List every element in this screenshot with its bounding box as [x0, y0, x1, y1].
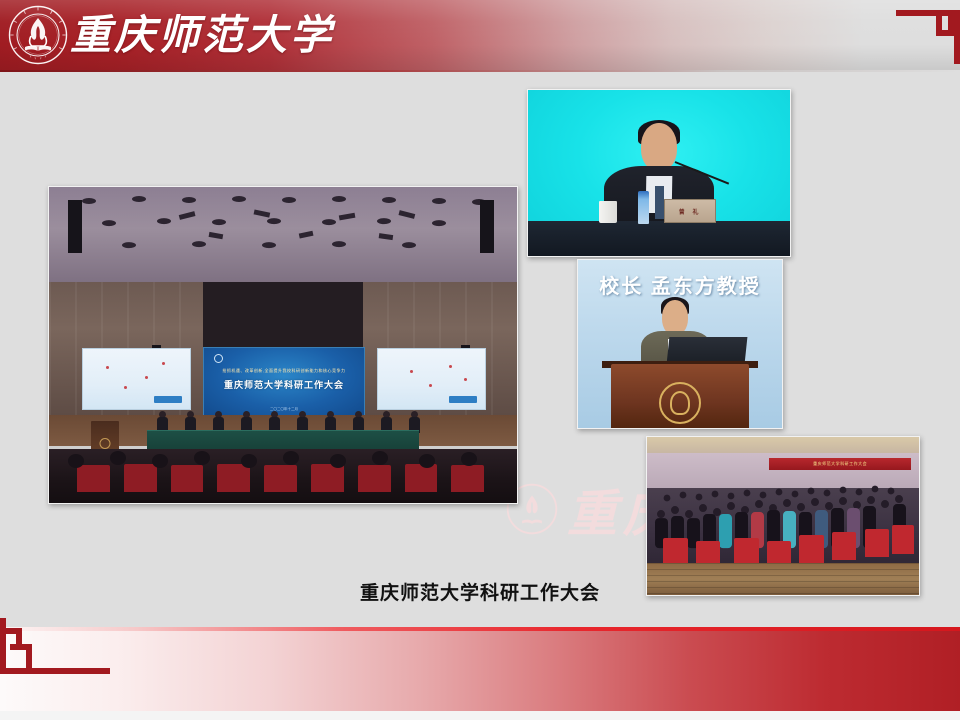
presentation-slide: 重庆师范大学 重庆师范大学 — [0, 0, 960, 720]
side-screen-left — [82, 348, 192, 410]
water-bottle — [638, 191, 649, 224]
slide-header: 重庆师范大学 — [0, 0, 960, 72]
ceiling-lights — [49, 187, 517, 291]
podium-seal-icon — [659, 382, 701, 424]
speaker-tie — [655, 186, 664, 219]
teacup — [599, 201, 617, 223]
speaker-head — [641, 123, 678, 171]
screen-subtitle: 抢抓机遇、改革创新,全面提升我校科研创新能力和核心竞争力 — [212, 368, 355, 374]
screen-seal-icon — [214, 354, 223, 363]
hall-dark-panel — [203, 282, 362, 352]
university-seal-logo — [8, 5, 68, 65]
footer-band — [0, 631, 960, 711]
photo-audience-standing[interactable]: 重庆师范大学科研工作大会 — [646, 436, 920, 596]
speaker-right — [480, 200, 494, 254]
side-screen-tag-left — [154, 396, 182, 403]
slide-caption: 重庆师范大学科研工作大会 — [0, 578, 960, 605]
university-name-title: 重庆师范大学 — [70, 2, 330, 68]
footer-baseline — [0, 711, 960, 720]
nameplate-text: 曾 礼 — [665, 200, 715, 222]
conference-table — [528, 221, 790, 256]
corner-ornament-top-right — [864, 0, 960, 64]
audience-area — [49, 449, 517, 503]
side-screen-tag-right — [449, 396, 477, 403]
photo-president-report[interactable]: 校长 孟东方教授 — [577, 259, 783, 429]
speaker-left — [68, 200, 82, 254]
stage-banner: 重庆师范大学科研工作大会 — [769, 458, 910, 471]
side-screen-right — [377, 348, 487, 410]
stage-banner-text: 重庆师范大学科研工作大会 — [769, 458, 910, 471]
speaking-podium — [611, 364, 750, 428]
photo-conference-hall[interactable]: 抢抓机遇、改革创新,全面提升我校科研创新能力和核心竞争力 重庆师范大学科研工作大… — [48, 186, 518, 504]
president-overlay-title: 校长 孟东方教授 — [578, 270, 782, 299]
screen-title: 重庆师范大学科研工作大会 — [212, 378, 355, 391]
podium-seal-icon — [100, 438, 111, 449]
photo-speaker-address[interactable]: 曾 礼 — [527, 89, 791, 257]
nameplate: 曾 礼 — [664, 199, 716, 223]
corner-ornament-bottom-left — [0, 610, 110, 682]
stage-led-screen: 抢抓机遇、改革创新,全面提升我校科研创新能力和核心竞争力 重庆师范大学科研工作大… — [203, 347, 364, 419]
header-underline — [0, 70, 960, 72]
